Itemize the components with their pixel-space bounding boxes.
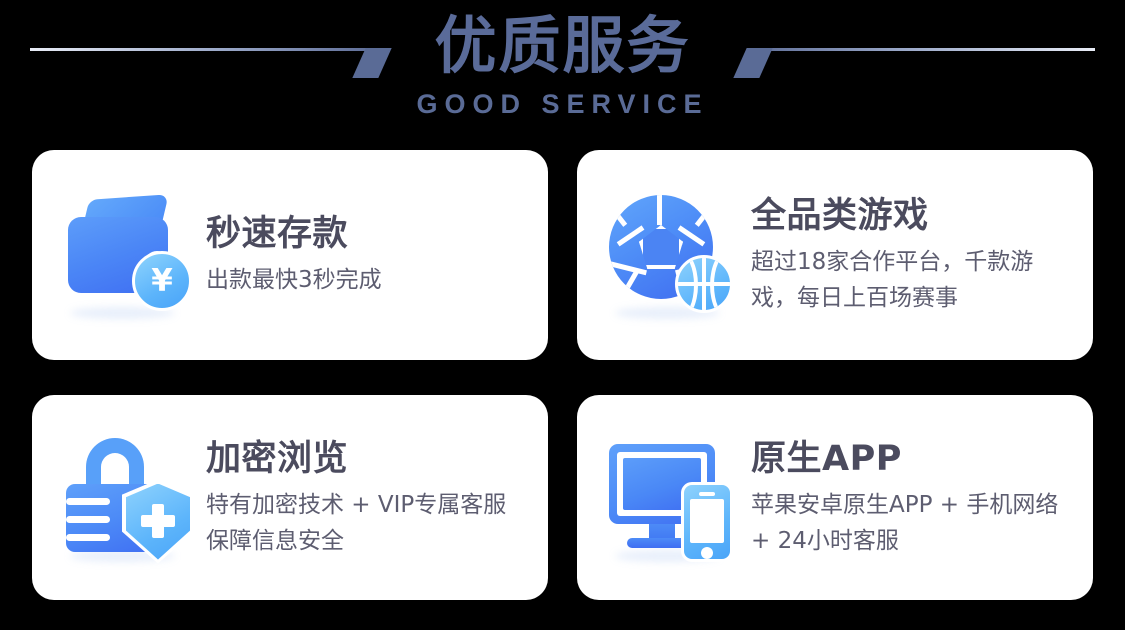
service-card-grid: ¥ 秒速存款 出款最快3秒完成 <box>32 150 1093 600</box>
soccer-basketball-icon <box>605 189 737 321</box>
basketball-icon <box>675 255 733 313</box>
lock-line <box>66 534 110 541</box>
wallet-yen-icon: ¥ <box>60 189 192 321</box>
ball-seam <box>609 200 627 227</box>
service-card-text: 原生APP 苹果安卓原生APP + 手机网络 + 24小时客服 <box>751 437 1069 559</box>
ball-seam <box>609 260 647 275</box>
page-title-cn: 优质服务 <box>0 8 1125 84</box>
service-card-text: 加密浏览 特有加密技术 + VIP专属客服保障信息安全 <box>206 437 524 559</box>
ball-seam <box>695 200 713 227</box>
yen-coin-icon: ¥ <box>132 251 192 311</box>
service-card-encryption[interactable]: 加密浏览 特有加密技术 + VIP专属客服保障信息安全 <box>32 395 548 600</box>
service-card-desc: 超过18家合作平台，千款游戏，每日上百场赛事 <box>751 244 1069 316</box>
lock-line <box>66 498 110 505</box>
lock-line <box>66 516 110 523</box>
service-card-games[interactable]: 全品类游戏 超过18家合作平台，千款游戏，每日上百场赛事 <box>577 150 1093 360</box>
service-card-desc: 特有加密技术 + VIP专属客服保障信息安全 <box>206 487 524 559</box>
service-card-title: 全品类游戏 <box>751 194 1069 238</box>
phone-screen-icon <box>690 499 724 543</box>
basketball-curve <box>675 255 698 313</box>
service-card-text: 全品类游戏 超过18家合作平台，千款游戏，每日上百场赛事 <box>751 194 1069 316</box>
service-card-desc: 苹果安卓原生APP + 手机网络 + 24小时客服 <box>751 487 1069 559</box>
service-card-desc: 出款最快3秒完成 <box>206 262 524 298</box>
lock-shield-icon <box>60 432 192 564</box>
page-title-en: GOOD SERVICE <box>0 88 1125 120</box>
page-title: 优质服务 GOOD SERVICE <box>0 8 1125 120</box>
service-card-title: 加密浏览 <box>206 437 524 481</box>
basketball-curve <box>710 255 733 313</box>
service-card-title: 秒速存款 <box>206 212 524 256</box>
phone-speaker-icon <box>699 492 715 496</box>
service-card-deposit[interactable]: ¥ 秒速存款 出款最快3秒完成 <box>32 150 548 360</box>
phone-icon <box>681 482 733 562</box>
service-card-title: 原生APP <box>751 437 1069 481</box>
service-card-text: 秒速存款 出款最快3秒完成 <box>206 212 524 298</box>
service-card-native-app[interactable]: 原生APP 苹果安卓原生APP + 手机网络 + 24小时客服 <box>577 395 1093 600</box>
phone-home-button-icon <box>701 547 713 559</box>
ball-pentagon <box>639 225 683 269</box>
page-header: 优质服务 GOOD SERVICE <box>0 0 1125 142</box>
ball-seam <box>657 195 662 225</box>
monitor-phone-icon <box>605 432 737 564</box>
cross-icon <box>141 515 175 527</box>
